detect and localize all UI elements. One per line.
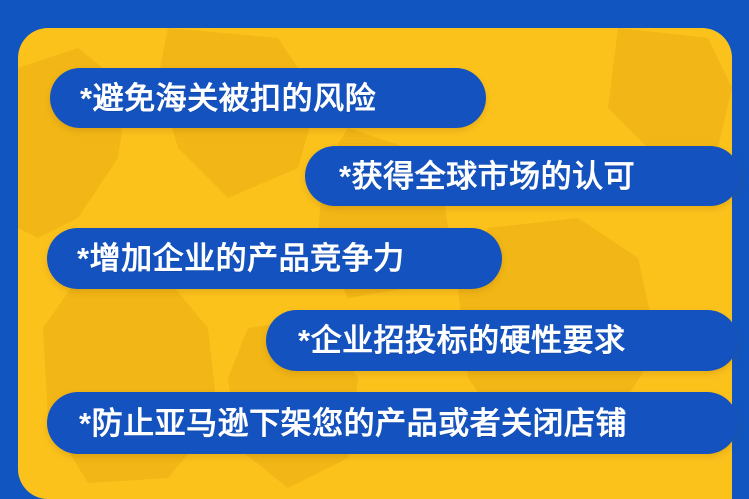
benefit-pill-1[interactable]: *避免海关被扣的风险 <box>50 68 486 128</box>
benefit-pill-2[interactable]: *获得全球市场的认可 <box>305 146 740 206</box>
benefit-pill-4[interactable]: *企业招投标的硬性要求 <box>266 310 738 371</box>
benefit-pill-4-label: *企业招投标的硬性要求 <box>298 325 626 356</box>
benefit-pill-1-label: *避免海关被扣的风险 <box>80 83 376 114</box>
benefit-pill-2-label: *获得全球市场的认可 <box>339 161 635 192</box>
benefit-pill-5-label: *防止亚马逊下架您的产品或者关闭店铺 <box>79 408 627 439</box>
benefit-pill-3-label: *增加企业的产品竞争力 <box>77 243 405 274</box>
poster-root: *避免海关被扣的风险 *获得全球市场的认可 *增加企业的产品竞争力 *企业招投标… <box>0 0 749 499</box>
benefit-pill-3[interactable]: *增加企业的产品竞争力 <box>47 228 502 289</box>
benefit-pill-5[interactable]: *防止亚马逊下架您的产品或者关闭店铺 <box>47 392 738 454</box>
benefit-pill-list: *避免海关被扣的风险 *获得全球市场的认可 *增加企业的产品竞争力 *企业招投标… <box>0 0 749 499</box>
